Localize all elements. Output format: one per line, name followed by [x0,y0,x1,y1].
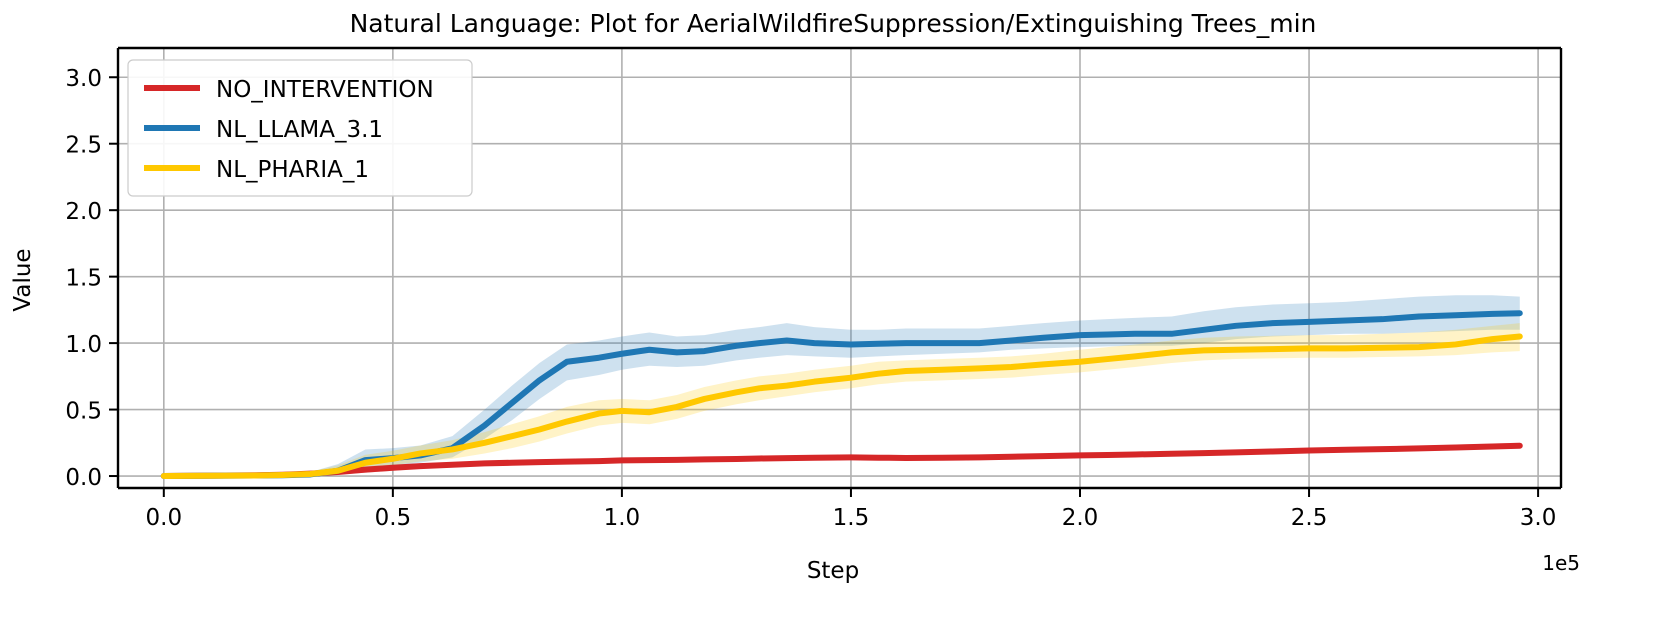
x-tick-label: 3.0 [1520,505,1557,531]
y-tick-label: 2.5 [65,133,102,159]
x-tick-label: 0.5 [375,505,412,531]
y-tick-label: 0.0 [65,465,102,491]
y-tick-label: 3.0 [65,66,102,92]
legend-label: NL_LLAMA_3.1 [216,117,383,143]
figure-container: Natural Language: Plot for AerialWildfir… [0,0,1661,617]
chart-title: Natural Language: Plot for AerialWildfir… [350,9,1317,38]
legend-label: NO_INTERVENTION [216,77,434,103]
x-axis-label: Step [807,558,859,584]
y-tick-label: 2.0 [65,199,102,225]
x-tick-label: 0.0 [146,505,183,531]
y-tick-label: 0.5 [65,399,102,425]
x-tick-label: 2.5 [1291,505,1328,531]
y-tick-label: 1.0 [65,332,102,358]
y-tick-label: 1.5 [65,266,102,292]
x-axis-offset-label: 1e5 [1542,551,1580,575]
x-tick-label: 1.5 [833,505,870,531]
legend[interactable]: NO_INTERVENTIONNL_LLAMA_3.1NL_PHARIA_1 [128,60,472,196]
y-axis-label: Value [10,248,36,311]
x-tick-label: 2.0 [1062,505,1099,531]
line-chart: Natural Language: Plot for AerialWildfir… [0,0,1661,617]
x-tick-label: 1.0 [604,505,641,531]
legend-label: NL_PHARIA_1 [216,157,369,183]
